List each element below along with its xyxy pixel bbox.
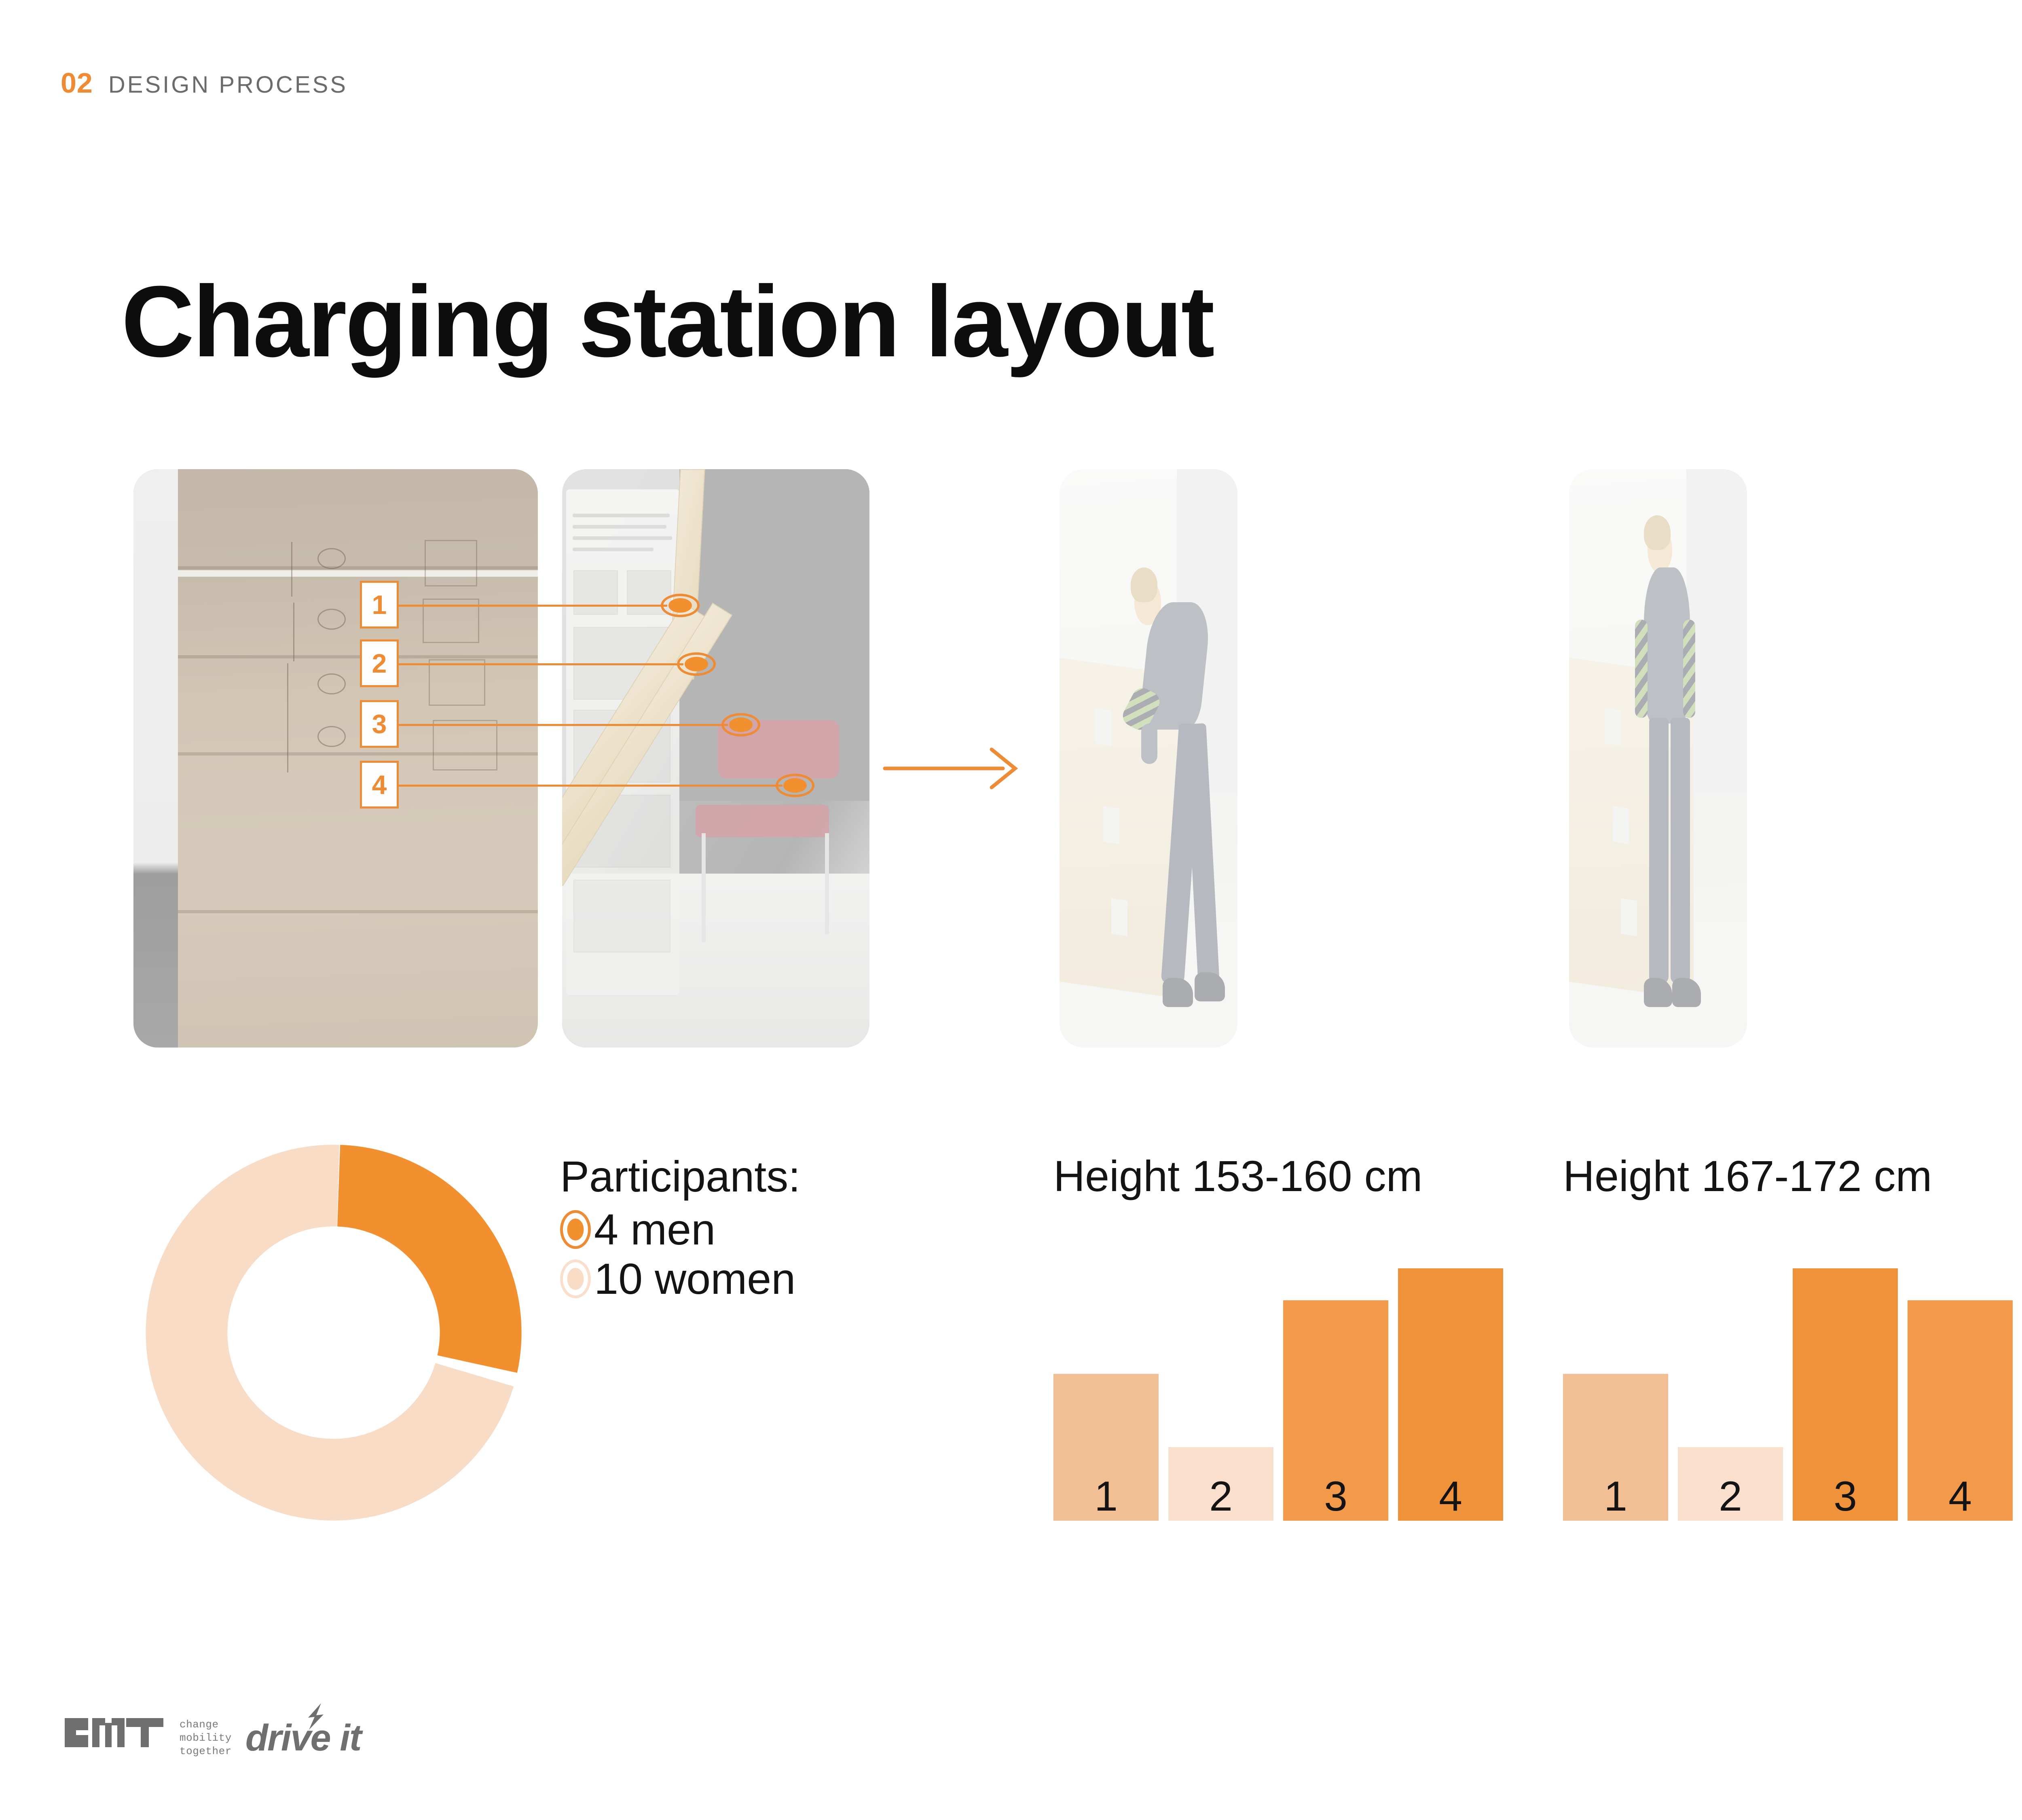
bar-group: 1 2 3 4 — [1563, 1201, 2022, 1521]
marker-chip-1[interactable]: 1 — [360, 581, 399, 629]
legend-item-men[interactable]: 4 men — [560, 1208, 800, 1251]
legend-swatch-men — [560, 1210, 591, 1249]
flow-arrow-icon — [882, 744, 1043, 793]
photo-overlay — [562, 469, 869, 1048]
lightning-bolt-icon — [305, 1703, 326, 1730]
dimension-arrow — [293, 603, 294, 661]
page-title: Charging station layout — [121, 271, 1213, 372]
section-label: DESIGN PROCESS — [108, 71, 348, 98]
pencil-box — [425, 540, 477, 586]
pencil-mark — [317, 548, 346, 569]
participants-donut-chart — [129, 1128, 538, 1537]
bar-label: 4 — [1948, 1475, 1972, 1517]
bar-label: 3 — [1324, 1475, 1347, 1517]
footer-logo: change mobility together drive it — [65, 1717, 361, 1759]
driveit-brand: drive it — [245, 1717, 361, 1759]
bar-label: 2 — [1209, 1475, 1233, 1517]
hotspot-dot-1[interactable] — [661, 594, 700, 617]
photo-wall — [133, 469, 178, 1048]
bar-item: 1 — [1563, 1374, 1668, 1521]
bar-item: 2 — [1168, 1447, 1273, 1521]
cmt-tagline: change mobility together — [180, 1718, 232, 1759]
charging-station-prototype-photo — [562, 469, 869, 1048]
section-number: 02 — [61, 67, 93, 99]
sequence-photo-1 — [1060, 469, 1237, 1048]
bar-chart-height-153-160: Height 153-160 cm 1 2 3 4 — [1053, 1151, 1559, 1201]
dimension-arrow — [291, 542, 292, 597]
sequence-photo-2 — [1569, 469, 1747, 1048]
marker-chip-4[interactable]: 4 — [360, 761, 399, 808]
cardboard-seam — [178, 566, 538, 569]
legend-swatch-women — [560, 1259, 591, 1298]
marker-connector-1 — [364, 605, 667, 607]
bar-label: 4 — [1439, 1475, 1462, 1517]
legend-item-women[interactable]: 10 women — [560, 1257, 800, 1301]
cmt-tagline-line-1: change — [180, 1718, 232, 1731]
cmt-tagline-line-2: mobility — [180, 1731, 232, 1745]
pencil-mark — [317, 726, 346, 747]
bar-chart-height-167-172: Height 167-172 cm 1 2 3 4 — [1563, 1151, 2022, 1201]
bar-label: 3 — [1834, 1475, 1857, 1517]
cmt-logo-mark — [65, 1718, 166, 1759]
marker-connector-4 — [364, 785, 783, 787]
pencil-mark — [317, 609, 346, 630]
dimension-arrow — [287, 663, 288, 772]
driveit-text: drive it — [245, 1717, 361, 1759]
bar-item: 1 — [1053, 1374, 1159, 1521]
participants-title: Participants: — [560, 1151, 800, 1202]
hotspot-dot-2[interactable] — [677, 652, 716, 676]
chart-title: Height 153-160 cm — [1053, 1151, 1559, 1201]
marker-chip-3[interactable]: 3 — [360, 700, 399, 748]
participants-legend: Participants: 4 men 10 women — [560, 1151, 800, 1301]
cardboard-seam — [178, 910, 538, 913]
cardboard-seam — [178, 655, 538, 658]
bar-item: 3 — [1283, 1300, 1388, 1521]
pencil-box — [429, 659, 485, 706]
hotspot-dot-3[interactable] — [721, 713, 760, 736]
marker-chip-2[interactable]: 2 — [360, 639, 399, 687]
pencil-mark — [317, 673, 346, 694]
slide: 02 DESIGN PROCESS Charging station layou… — [0, 0, 2022, 1820]
chart-title: Height 167-172 cm — [1563, 1151, 2022, 1201]
marker-connector-3 — [364, 724, 728, 726]
cardboard-tape — [178, 570, 538, 577]
bar-item: 4 — [1908, 1300, 2013, 1521]
bar-label: 2 — [1719, 1475, 1742, 1517]
cmt-tagline-line-3: together — [180, 1745, 232, 1758]
bar-item: 2 — [1678, 1447, 1783, 1521]
section-kicker: 02 DESIGN PROCESS — [61, 67, 348, 99]
bar-group: 1 2 3 4 — [1053, 1201, 1527, 1521]
cardboard-mockup-photo — [133, 469, 538, 1048]
bar-label: 1 — [1604, 1475, 1627, 1517]
pencil-box — [433, 720, 497, 770]
bar-item: 4 — [1398, 1268, 1503, 1521]
bar-label: 1 — [1094, 1475, 1118, 1517]
legend-label-women: 10 women — [594, 1257, 795, 1301]
hotspot-dot-4[interactable] — [776, 774, 814, 797]
legend-label-men: 4 men — [594, 1208, 715, 1251]
marker-connector-2 — [364, 663, 683, 665]
bar-item: 3 — [1793, 1268, 1898, 1521]
